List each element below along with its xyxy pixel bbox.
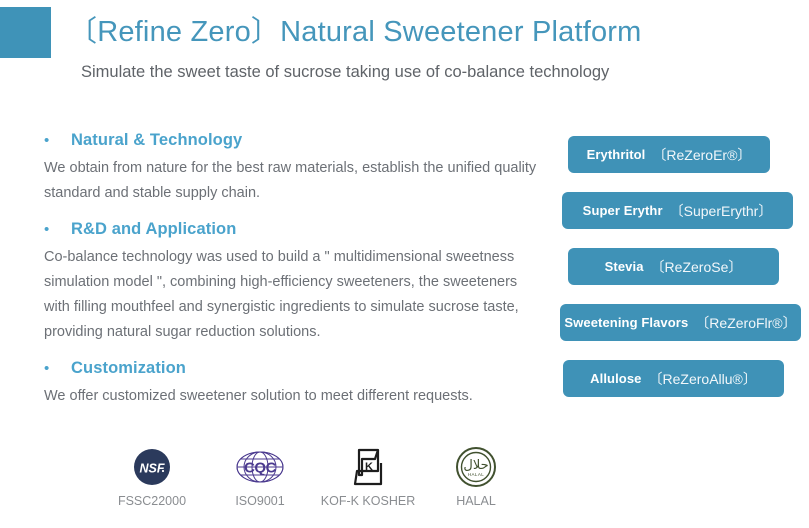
svg-text:HALAL: HALAL <box>468 472 484 477</box>
certification-label: HALAL <box>456 494 496 508</box>
product-name: Erythritol <box>587 147 646 162</box>
product-name: Allulose <box>590 371 641 386</box>
halal-seal-icon: حلال HALAL <box>455 444 497 490</box>
product-name: Super Erythr <box>583 203 663 218</box>
feature-title: R&D and Application <box>71 220 236 239</box>
nsf-seal-icon: NSF <box>132 444 172 490</box>
product-code: 〔ReZeroFlr®〕 <box>695 313 796 333</box>
product-code: 〔ReZeroEr®〕 <box>652 145 751 165</box>
certification-label: KOF-K KOSHER <box>321 494 415 508</box>
bullet-icon: • <box>44 361 71 376</box>
accent-square-decoration <box>0 7 51 58</box>
certification-label: ISO9001 <box>235 494 284 508</box>
svg-text:NSF: NSF <box>140 462 165 476</box>
certification-list: NSF FSSC22000 CQC ISO9001 <box>113 444 515 508</box>
certification-item-kof-k-kosher: K KOF-K KOSHER <box>329 444 407 508</box>
product-code: 〔ReZeroAllu®〕 <box>649 369 757 389</box>
svg-text:حلال: حلال <box>463 458 488 473</box>
page-title: 〔Refine Zero〕Natural Sweetener Platform <box>68 8 642 50</box>
certification-item-fssc22000: NSF FSSC22000 <box>113 444 191 508</box>
cqc-globe-icon: CQC <box>235 444 285 490</box>
feature-heading: • R&D and Application <box>44 220 539 239</box>
certification-label: FSSC22000 <box>118 494 186 508</box>
feature-item-rd-application: • R&D and Application Co-balance technol… <box>44 220 539 345</box>
product-name: Stevia <box>605 259 644 274</box>
product-button-stevia[interactable]: Stevia 〔ReZeroSe〕 <box>568 248 779 285</box>
certification-item-halal: حلال HALAL HALAL <box>437 444 515 508</box>
feature-body: We obtain from nature for the best raw m… <box>44 156 539 206</box>
feature-heading: • Natural & Technology <box>44 131 539 150</box>
product-button-allulose[interactable]: Allulose 〔ReZeroAllu®〕 <box>563 360 784 397</box>
feature-title: Natural & Technology <box>71 131 242 150</box>
svg-text:K: K <box>365 461 373 473</box>
kof-k-kosher-icon: K <box>348 444 388 490</box>
product-code: 〔SuperErythr〕 <box>670 201 773 221</box>
feature-body: We offer customized sweetener solution t… <box>44 384 539 409</box>
bullet-icon: • <box>44 222 71 237</box>
product-name: Sweetening Flavors <box>564 315 688 330</box>
product-button-sweetening-flavors[interactable]: Sweetening Flavors 〔ReZeroFlr®〕 <box>560 304 801 341</box>
feature-body: Co-balance technology was used to build … <box>44 245 539 345</box>
product-button-super-erythr[interactable]: Super Erythr 〔SuperErythr〕 <box>562 192 793 229</box>
feature-item-natural-technology: • Natural & Technology We obtain from na… <box>44 131 539 206</box>
product-code: 〔ReZeroSe〕 <box>651 257 743 277</box>
feature-heading: • Customization <box>44 359 539 378</box>
feature-list: • Natural & Technology We obtain from na… <box>44 131 539 423</box>
certification-item-iso9001: CQC ISO9001 <box>221 444 299 508</box>
feature-title: Customization <box>71 359 186 378</box>
product-button-erythritol[interactable]: Erythritol 〔ReZeroEr®〕 <box>568 136 770 173</box>
page-subtitle: Simulate the sweet taste of sucrose taki… <box>81 63 609 82</box>
product-button-list: Erythritol 〔ReZeroEr®〕 Super Erythr 〔Sup… <box>560 136 804 416</box>
feature-item-customization: • Customization We offer customized swee… <box>44 359 539 409</box>
bullet-icon: • <box>44 133 71 148</box>
svg-text:CQC: CQC <box>244 460 277 477</box>
page-header: 〔Refine Zero〕Natural Sweetener Platform … <box>0 0 809 95</box>
